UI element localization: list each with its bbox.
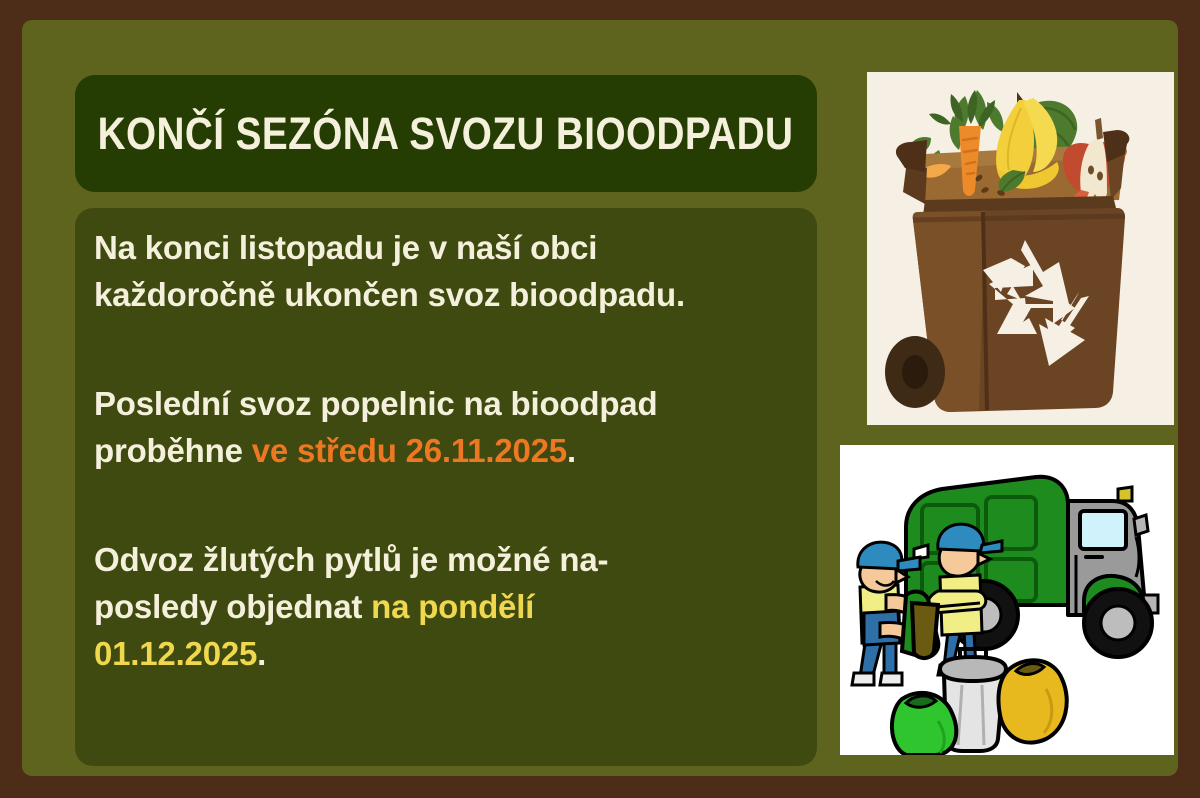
yellow-bags-date: 01.12.2025	[94, 635, 257, 672]
paragraph-yellow-bags: Odvoz žlutých pytlů je možné na- posledy…	[94, 536, 795, 677]
yellow-bags-day: na pondělí	[371, 588, 534, 625]
body-panel: Na konci listopadu je v naší obci každor…	[75, 208, 817, 766]
last-pickup-suffix: .	[567, 432, 576, 469]
garbage-truck-graphic	[840, 445, 1174, 755]
paragraph-last-pickup: Poslední svoz popelnic na bioodpad probě…	[94, 380, 795, 474]
last-pickup-prefix: proběhne	[94, 432, 252, 469]
paragraph-intro: Na konci listopadu je v naší obci každor…	[94, 224, 795, 318]
paragraph-spacer-1	[94, 318, 795, 380]
page-title: KONČÍ SEZÓNA SVOZU BIOODPADU	[98, 111, 794, 156]
garbage-truck-illustration	[840, 445, 1174, 755]
olive-frame: KONČÍ SEZÓNA SVOZU BIOODPADU Na konci li…	[22, 20, 1178, 776]
intro-line-1: Na konci listopadu je v naší obci	[94, 229, 597, 266]
intro-line-2: každoročně ukončen svoz bioodpadu.	[94, 276, 685, 313]
title-banner: KONČÍ SEZÓNA SVOZU BIOODPADU	[75, 75, 817, 192]
bio-bin-illustration	[867, 72, 1174, 425]
bio-bin-graphic	[867, 72, 1174, 425]
yellow-bags-suffix: .	[257, 635, 266, 672]
paragraph-spacer-2	[94, 474, 795, 536]
yellow-bags-line-1: Odvoz žlutých pytlů je možné na-	[94, 541, 608, 578]
poster-canvas: KONČÍ SEZÓNA SVOZU BIOODPADU Na konci li…	[0, 0, 1200, 798]
yellow-bags-prefix: posledy objednat	[94, 588, 371, 625]
last-pickup-date: ve středu 26.11.2025	[252, 432, 567, 469]
last-pickup-line-1: Poslední svoz popelnic na bioodpad	[94, 385, 657, 422]
